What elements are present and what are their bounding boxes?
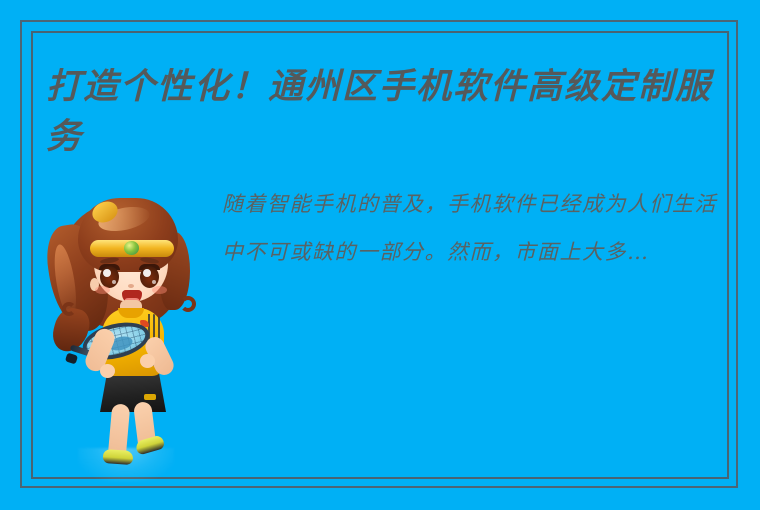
card-title[interactable]: 打造个性化！通州区手机软件高级定制服务 [46,62,736,162]
hair-curl-left [62,302,76,316]
mascot-illustration [48,196,208,486]
card-excerpt: 随着智能手机的普及，手机软件已经成为人们生活中不可或缺的一部分。然而，市面上大多… [222,180,722,276]
nose [128,284,134,288]
skirt-logo [144,394,156,400]
blush-right [152,286,167,294]
blush-left [95,286,110,294]
eye-right [140,266,159,288]
shoe-left [103,449,134,465]
headband-gem-icon [124,241,139,255]
article-card: 打造个性化！通州区手机软件高级定制服务 随着智能手机的普及，手机软件已经成为人们… [0,0,760,510]
eye-left [100,266,119,288]
hand-right [140,354,155,368]
racket-grip [65,353,78,365]
hair-curl-right [180,296,196,312]
hand-left [100,364,115,378]
